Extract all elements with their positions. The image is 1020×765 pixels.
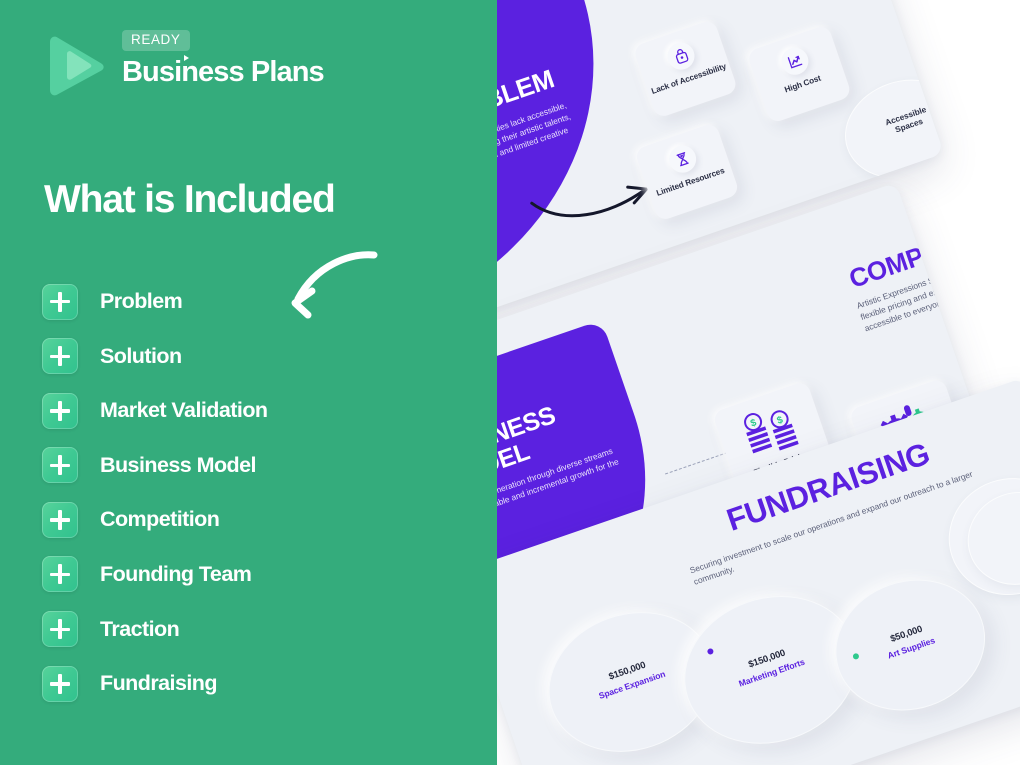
list-item-label: Problem (100, 289, 182, 314)
svg-text:$: $ (749, 417, 758, 429)
list-item[interactable]: Business Model (42, 447, 462, 484)
plus-icon[interactable] (42, 338, 78, 374)
list-item[interactable]: Traction (42, 611, 462, 648)
rotated-deck: THE PROBLEM Many individuals and communi… (497, 0, 1020, 765)
list-item[interactable]: Founding Team (42, 556, 462, 593)
list-item[interactable]: Problem (42, 283, 462, 320)
brand-block: READY Business Plans (44, 30, 374, 110)
play-triangle-icon (44, 34, 106, 98)
plus-icon[interactable] (42, 502, 78, 538)
list-item-label: Founding Team (100, 562, 251, 587)
problem-card-0[interactable]: Lack of Accessibility (632, 19, 738, 119)
list-item[interactable]: Market Validation (42, 392, 462, 429)
problem-card-1[interactable]: High Cost (746, 24, 852, 124)
svg-text:$: $ (776, 414, 785, 426)
list-item[interactable]: Fundraising (42, 665, 462, 702)
slide-preview-stage: THE PROBLEM Many individuals and communi… (0, 0, 1020, 765)
brand-text: READY Business Plans (122, 30, 324, 87)
deck-preview-area: THE PROBLEM Many individuals and communi… (497, 0, 1020, 765)
brand-title-text: Business Plans (122, 56, 324, 88)
left-green-panel: READY Business Plans What is Included Pr… (0, 0, 497, 765)
chart-up-icon (778, 44, 812, 78)
list-item-label: Market Validation (100, 398, 267, 423)
list-item-label: Solution (100, 344, 182, 369)
plus-icon[interactable] (42, 284, 78, 320)
list-item-label: Fundraising (100, 671, 217, 696)
bm-dashline-0 (665, 452, 728, 474)
list-item-label: Traction (100, 617, 179, 642)
plus-icon[interactable] (42, 393, 78, 429)
ready-badge: READY (122, 30, 190, 51)
plus-icon[interactable] (42, 666, 78, 702)
list-item-label: Competition (100, 507, 219, 532)
feature-list: Problem Solution Market Validation Busin… (42, 283, 462, 720)
plus-icon[interactable] (42, 611, 78, 647)
plus-icon[interactable] (42, 556, 78, 592)
brand-title: Business Plans (122, 57, 324, 87)
list-item[interactable]: Solution (42, 338, 462, 375)
hourglass-icon (665, 142, 699, 176)
plus-icon[interactable] (42, 447, 78, 483)
page-title: What is Included (44, 180, 335, 221)
list-item-label: Business Model (100, 453, 256, 478)
lock-icon (664, 39, 698, 73)
title-play-accent-icon (184, 55, 189, 61)
list-item[interactable]: Competition (42, 501, 462, 538)
